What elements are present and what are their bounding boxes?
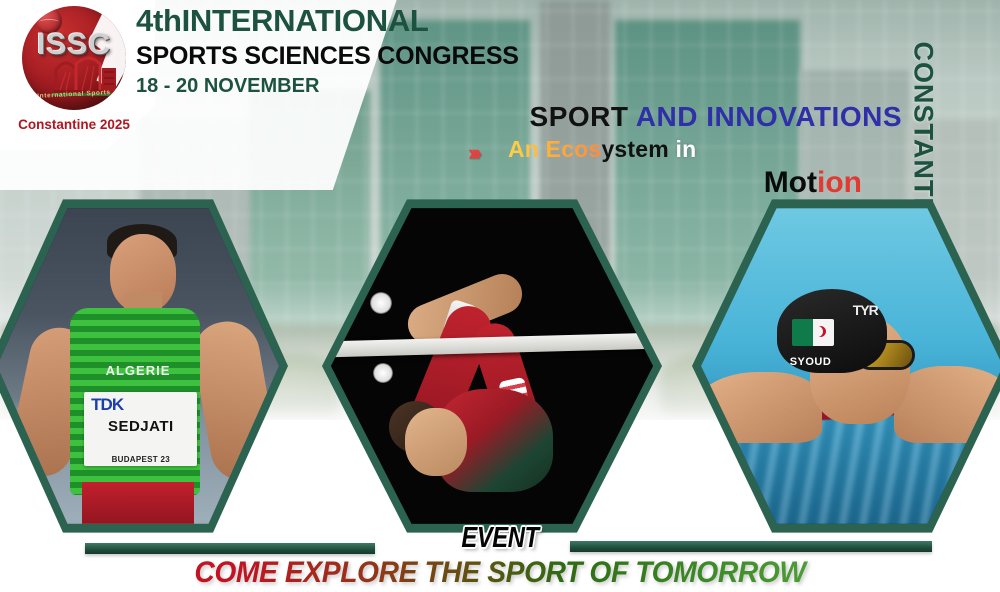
swim-cap: TYR SYOUD [777,289,887,373]
theme-line-1: SPORT AND INNOVATIONS [460,100,930,134]
header-text-block: 4thINTERNATIONAL SPORTS SCIENCES CONGRES… [136,2,519,100]
header-edition: 4th [136,3,182,38]
theme-and-innovations: AND INNOVATIONS [636,101,902,132]
header-line-2: SPORTS SCIENCES CONGRESS [136,40,519,72]
swimmer-shoulder-right [894,366,1000,443]
logo-disc: ISSC International Sports Sciences Congr… [22,6,126,110]
theme-line-2: ›››An Ecosystem in [460,134,930,164]
swimmer-shoulder-left [701,372,822,443]
logo-city-year: Constantine 2025 [12,117,136,132]
theme-in-word: in [676,136,697,162]
theme-ecosystem-gradient: An Ecos [508,136,601,162]
bib-athlete-name: SEDJATI [84,418,197,435]
header-international: INTERNATIONAL [182,3,429,38]
poster-root: ISSC International Sports Sciences Congr… [0,0,1000,592]
theme-sport-word: SPORT [530,101,629,132]
arena-light [373,363,393,383]
issc-logo: ISSC International Sports Sciences Congr… [12,4,132,132]
chevron-arrows-icon: ››› [468,138,478,168]
cap-athlete-name: SYOUD [790,356,832,368]
event-label: EVENT [90,522,910,555]
logo-acronym: ISSC [22,28,126,62]
logo-arc-text: International Sports Sciences Congress [29,80,118,110]
theme-ecosystem-rest: ystem [601,136,668,162]
theme-line-3: Motion [460,164,930,202]
runner-shorts [82,482,195,527]
algeria-flag-icon [792,319,834,346]
bib-meet-name: BUDAPEST 23 [84,455,197,464]
runner-image: ALGERIE TDK SEDJATI BUDAPEST 23 [0,205,279,527]
runner-country-text: ALGERIE [0,363,279,378]
theme-motion-black: Mot [764,166,817,199]
header-line-1: 4thINTERNATIONAL [136,2,519,40]
header-dates: 18 - 20 NOVEMBER [136,72,519,100]
gymnast-head [405,408,467,476]
theme-motion-red: ion [817,166,862,199]
theme-block: SPORT AND INNOVATIONS ›››An Ecosystem in… [460,100,930,202]
cap-brand-text: TYR [853,302,878,318]
bib-sponsor: TDK [91,395,190,419]
runner-race-bib: TDK SEDJATI BUDAPEST 23 [84,392,197,466]
footer-tagline: COME EXPLORE THE SPORT OF TOMORROW [30,556,970,590]
arena-light [370,292,392,314]
photo-runner-frame: ALGERIE TDK SEDJATI BUDAPEST 23 [0,205,279,527]
